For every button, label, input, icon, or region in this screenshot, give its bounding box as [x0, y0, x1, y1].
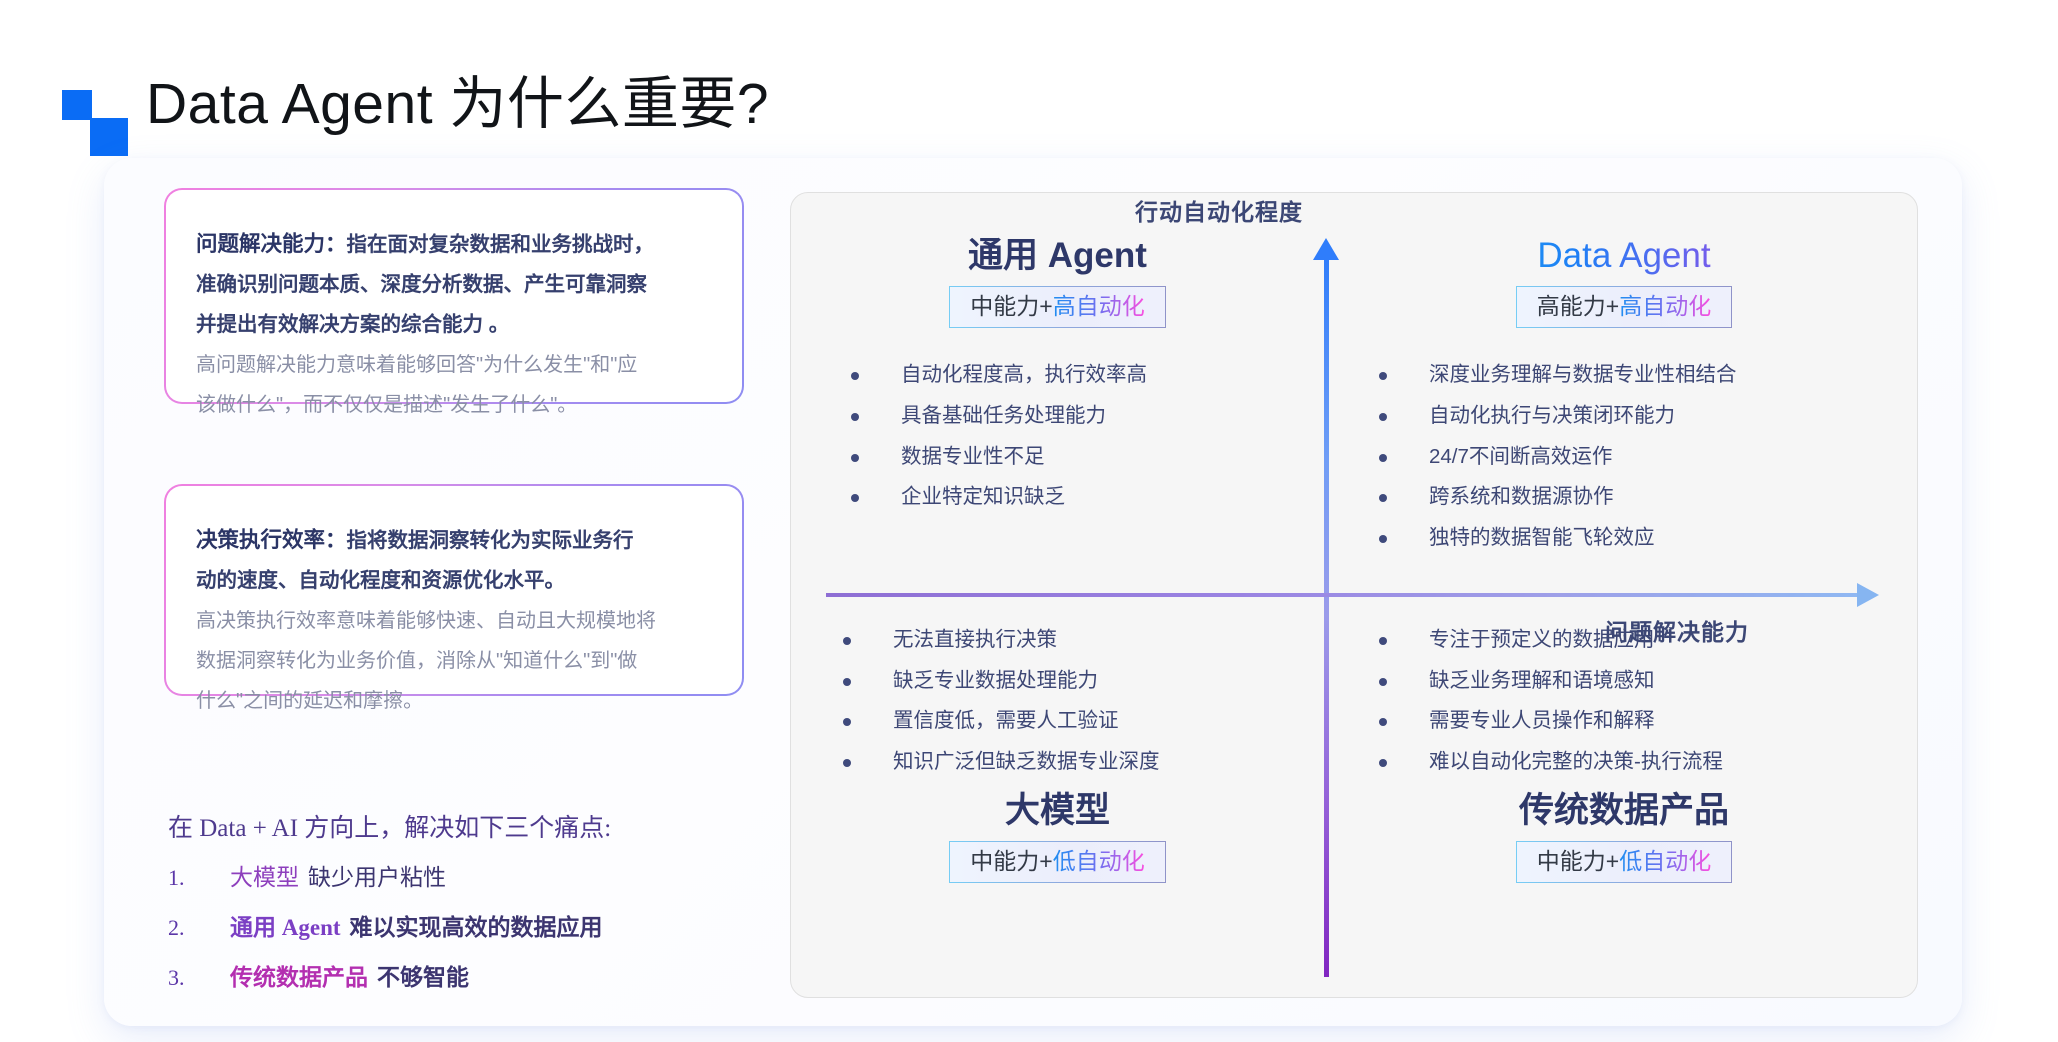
slide-root: Data Agent 为什么重要? 问题解决能力：指在面对复杂数据和业务挑战时，… — [0, 0, 2058, 1042]
bullet-text: 独特的数据智能飞轮效应 — [1429, 525, 1655, 552]
badge-gradient-text: 低自动化 — [1619, 848, 1711, 874]
list-item: 独特的数据智能飞轮效应 — [1379, 525, 1919, 552]
card-line: 决策执行效率：指将数据洞察转化为实际业务行 — [196, 520, 712, 561]
bullet-dot-icon — [1379, 759, 1387, 767]
bullet-text: 深度业务理解与数据专业性相结合 — [1429, 362, 1737, 389]
quadrant-badge: 高能力+高自动化 — [1516, 286, 1732, 328]
bullet-dot-icon — [843, 678, 851, 686]
pain-points-section: 在 Data + AI 方向上，解决如下三个痛点: 1. 大模型 缺少用户粘性 … — [168, 808, 768, 1008]
pain-point-number: 2. — [168, 915, 230, 941]
pain-point-text: 缺少用户粘性 — [308, 858, 446, 892]
brand-squares-logo — [62, 90, 132, 156]
bullet-dot-icon — [1379, 494, 1387, 502]
list-item: 无法直接执行决策 — [843, 627, 1324, 654]
quadrant-bottom-left: 无法直接执行决策 缺乏专业数据处理能力 置信度低，需要人工验证 知识广泛但缺乏数… — [791, 605, 1324, 999]
list-item: 自动化程度高，执行效率高 — [851, 362, 1324, 389]
card-line: 准确识别问题本质、深度分析数据、产生可靠洞察 — [196, 265, 712, 305]
list-item: 企业特定知识缺乏 — [851, 484, 1324, 511]
list-item: 数据专业性不足 — [851, 444, 1324, 471]
quadrant-bullet-list: 自动化程度高，执行效率高 具备基础任务处理能力 数据专业性不足 企业特定知识缺乏 — [791, 362, 1324, 511]
badge-plain-text: 中能力+ — [970, 848, 1052, 874]
slide-header: Data Agent 为什么重要? — [0, 0, 2058, 165]
logo-square-large — [90, 118, 128, 156]
pain-point-keyword: 通用 Agent — [230, 908, 341, 942]
bullet-text: 企业特定知识缺乏 — [901, 484, 1065, 511]
quadrant-bottom-right: 专注于预定义的数据应用 缺乏业务理解和语境感知 需要专业人员操作和解释 难以自动… — [1329, 605, 1919, 999]
bullet-dot-icon — [1379, 454, 1387, 462]
bullet-text: 跨系统和数据源协作 — [1429, 484, 1614, 511]
bullet-dot-icon — [1379, 678, 1387, 686]
definition-card-problem-solving: 问题解决能力：指在面对复杂数据和业务挑战时， 准确识别问题本质、深度分析数据、产… — [164, 188, 744, 404]
bullet-dot-icon — [1379, 372, 1387, 380]
quadrant-header: 传统数据产品 中能力+低自动化 — [1329, 790, 1919, 883]
bullet-dot-icon — [843, 637, 851, 645]
card-lead-label: 问题解决能力： — [196, 232, 347, 256]
pain-point-keyword: 大模型 — [230, 858, 299, 892]
quadrant-header: Data Agent 高能力+高自动化 — [1329, 235, 1919, 328]
bullet-dot-icon — [843, 759, 851, 767]
pain-point-text: 不够智能 — [377, 958, 469, 992]
card-line: 动的速度、自动化程度和资源优化水平。 — [196, 561, 712, 601]
bullet-dot-icon — [843, 718, 851, 726]
pain-point-item: 1. 大模型 缺少用户粘性 — [168, 858, 768, 892]
bullet-text: 自动化程度高，执行效率高 — [901, 362, 1147, 389]
list-item: 自动化执行与决策闭环能力 — [1379, 403, 1919, 430]
bullet-text: 具备基础任务处理能力 — [901, 403, 1106, 430]
bullet-text: 24/7不间断高效运作 — [1429, 444, 1612, 471]
y-axis-label: 行动自动化程度 — [1135, 193, 1303, 227]
pain-points-heading: 在 Data + AI 方向上，解决如下三个痛点: — [168, 808, 768, 844]
list-item: 知识广泛但缺乏数据专业深度 — [843, 749, 1324, 776]
quadrant-badge: 中能力+高自动化 — [949, 286, 1165, 328]
card-subline: 高决策执行效率意味着能够快速、自动且大规模地将 — [196, 601, 712, 641]
badge-gradient-text: 高自动化 — [1619, 293, 1711, 319]
quadrant-bullet-list: 专注于预定义的数据应用 缺乏业务理解和语境感知 需要专业人员操作和解释 难以自动… — [1329, 611, 1919, 776]
card-line: 并提出有效解决方案的综合能力 。 — [196, 305, 712, 345]
quadrant-header: 通用 Agent 中能力+高自动化 — [791, 235, 1324, 328]
badge-gradient-text: 高自动化 — [1053, 293, 1145, 319]
quadrant-badge: 中能力+低自动化 — [949, 841, 1165, 883]
badge-plain-text: 高能力+ — [1537, 293, 1619, 319]
bullet-dot-icon — [851, 413, 859, 421]
pain-point-item: 2. 通用 Agent 难以实现高效的数据应用 — [168, 908, 768, 942]
card-lead-rest: 指在面对复杂数据和业务挑战时， — [347, 233, 655, 256]
card-line: 问题解决能力：指在面对复杂数据和业务挑战时， — [196, 224, 712, 265]
quadrant-title: 通用 Agent — [791, 235, 1324, 276]
pain-point-text: 难以实现高效的数据应用 — [350, 908, 603, 942]
card-subline: 该做什么"，而不仅仅是描述"发生了什么"。 — [196, 385, 712, 425]
left-column: 问题解决能力：指在面对复杂数据和业务挑战时， 准确识别问题本质、深度分析数据、产… — [164, 188, 754, 1008]
quadrant-top-left: 通用 Agent 中能力+高自动化 自动化程度高，执行效率高 具备基础任务处理能… — [791, 235, 1324, 595]
badge-plain-text: 中能力+ — [970, 293, 1052, 319]
quadrant-title: 大模型 — [791, 790, 1324, 831]
list-item: 专注于预定义的数据应用 — [1379, 627, 1919, 654]
list-item: 缺乏专业数据处理能力 — [843, 668, 1324, 695]
pain-point-keyword: 传统数据产品 — [230, 958, 368, 992]
bullet-text: 难以自动化完整的决策-执行流程 — [1429, 749, 1723, 776]
quadrant-bullet-list: 深度业务理解与数据专业性相结合 自动化执行与决策闭环能力 24/7不间断高效运作… — [1329, 362, 1919, 551]
list-item: 24/7不间断高效运作 — [1379, 444, 1919, 471]
card-subline: 数据洞察转化为业务价值，消除从"知道什么"到"做 — [196, 641, 712, 681]
quadrant-chart: 行动自动化程度 问题解决能力 通用 Agent 中能力+高自动化 自动化程度高，… — [790, 192, 1918, 998]
list-item: 跨系统和数据源协作 — [1379, 484, 1919, 511]
bullet-dot-icon — [851, 372, 859, 380]
bullet-text: 专注于预定义的数据应用 — [1429, 627, 1655, 654]
badge-gradient-text: 低自动化 — [1053, 848, 1145, 874]
card-subline: 高问题解决能力意味着能够回答"为什么发生"和"应 — [196, 345, 712, 385]
page-title: Data Agent 为什么重要? — [146, 58, 769, 140]
bullet-dot-icon — [851, 454, 859, 462]
bullet-text: 知识广泛但缺乏数据专业深度 — [893, 749, 1160, 776]
badge-plain-text: 中能力+ — [1537, 848, 1619, 874]
bullet-dot-icon — [1379, 637, 1387, 645]
quadrant-badge: 中能力+低自动化 — [1516, 841, 1732, 883]
quadrant-bullet-list: 无法直接执行决策 缺乏专业数据处理能力 置信度低，需要人工验证 知识广泛但缺乏数… — [791, 611, 1324, 776]
pain-point-number: 1. — [168, 865, 230, 891]
bullet-text: 自动化执行与决策闭环能力 — [1429, 403, 1675, 430]
bullet-text: 缺乏业务理解和语境感知 — [1429, 668, 1655, 695]
bullet-dot-icon — [851, 494, 859, 502]
card-lead-label: 决策执行效率： — [196, 528, 347, 552]
bullet-text: 数据专业性不足 — [901, 444, 1045, 471]
pain-point-number: 3. — [168, 965, 230, 991]
quadrant-title: 传统数据产品 — [1329, 790, 1919, 831]
quadrant-header: 大模型 中能力+低自动化 — [791, 790, 1324, 883]
quadrant-title: Data Agent — [1329, 235, 1919, 276]
bullet-text: 置信度低，需要人工验证 — [893, 708, 1119, 735]
bullet-text: 缺乏专业数据处理能力 — [893, 668, 1098, 695]
list-item: 缺乏业务理解和语境感知 — [1379, 668, 1919, 695]
definition-card-decision-execution: 决策执行效率：指将数据洞察转化为实际业务行 动的速度、自动化程度和资源优化水平。… — [164, 484, 744, 696]
quadrant-top-right: Data Agent 高能力+高自动化 深度业务理解与数据专业性相结合 自动化执… — [1329, 235, 1919, 595]
list-item: 难以自动化完整的决策-执行流程 — [1379, 749, 1919, 776]
list-item: 需要专业人员操作和解释 — [1379, 708, 1919, 735]
card-lead-rest: 指将数据洞察转化为实际业务行 — [347, 529, 634, 552]
bullet-dot-icon — [1379, 535, 1387, 543]
bullet-text: 无法直接执行决策 — [893, 627, 1057, 654]
bullet-text: 需要专业人员操作和解释 — [1429, 708, 1655, 735]
pain-point-item: 3. 传统数据产品 不够智能 — [168, 958, 768, 992]
list-item: 置信度低，需要人工验证 — [843, 708, 1324, 735]
logo-square-small — [62, 90, 92, 120]
card-subline: 什么"之间的延迟和摩擦。 — [196, 681, 712, 721]
list-item: 具备基础任务处理能力 — [851, 403, 1324, 430]
list-item: 深度业务理解与数据专业性相结合 — [1379, 362, 1919, 389]
bullet-dot-icon — [1379, 718, 1387, 726]
bullet-dot-icon — [1379, 413, 1387, 421]
